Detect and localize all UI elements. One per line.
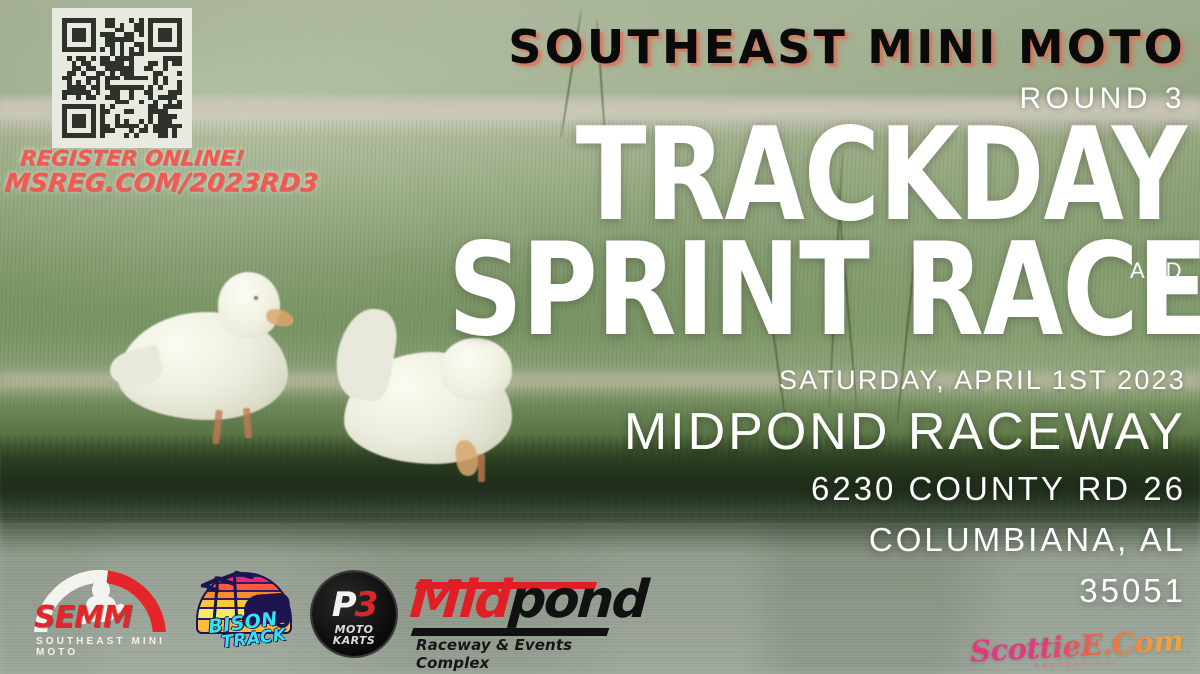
event-text-column: SOUTHEAST MINI MOTO ROUND 3 TRACKDAY SPR… [366, 0, 1186, 610]
sponsor-logo-row: SEMM SOUTHEAST MINI MOTO BISON TRACK P3 [26, 568, 618, 656]
midpond-pond-text: pond [507, 570, 648, 630]
p3-letter-p: P [332, 585, 355, 625]
qr-code-icon [62, 18, 182, 138]
organization-title: SOUTHEAST MINI MOTO [366, 24, 1186, 70]
event-date: SATURDAY, APRIL 1ST 2023 [366, 365, 1186, 396]
midpond-mid-text: Mid [408, 570, 511, 630]
registration-qr-code[interactable] [52, 8, 192, 148]
register-cta-label: REGISTER ONLINE! [6, 148, 258, 169]
p3-subtitle: MOTO KARTS [312, 624, 396, 646]
duck-left [118, 268, 308, 468]
headline-conjunction: AND [1130, 258, 1184, 284]
sponsor-logo-midpond[interactable]: Midpond Raceway & Events Complex [410, 572, 618, 656]
venue-name: MIDPOND RACEWAY [366, 406, 1186, 458]
event-flyer: REGISTER ONLINE! MSREG.COM/2023RD3 SOUTH… [0, 0, 1200, 674]
p3-sub-karts: KARTS [312, 635, 396, 646]
headline-sprint-races: SPRINT RACES [448, 235, 1186, 348]
midpond-tagline: Raceway & Events Complex [416, 636, 618, 672]
register-online-callout[interactable]: REGISTER ONLINE! MSREG.COM/2023RD3 [4, 148, 259, 195]
semm-wordmark: SEMM [34, 600, 132, 635]
venue-address-2: COLUMBIANA, AL [366, 521, 1186, 560]
register-url: MSREG.COM/2023RD3 [4, 170, 257, 195]
sponsor-logo-bison-track[interactable]: BISON TRACK [190, 568, 298, 656]
midpond-black-bar [411, 628, 610, 636]
p3-monogram: P3 [312, 588, 396, 622]
p3-letter-3: 3 [355, 585, 377, 625]
sponsor-logo-semm[interactable]: SEMM SOUTHEAST MINI MOTO [26, 570, 176, 656]
sponsor-logo-p3-moto-karts[interactable]: P3 MOTO KARTS [312, 572, 396, 656]
midpond-wordmark: Midpond [408, 574, 648, 626]
venue-address-1: 6230 COUNTY RD 26 [366, 470, 1186, 509]
semm-tagline: SOUTHEAST MINI MOTO [36, 636, 176, 658]
